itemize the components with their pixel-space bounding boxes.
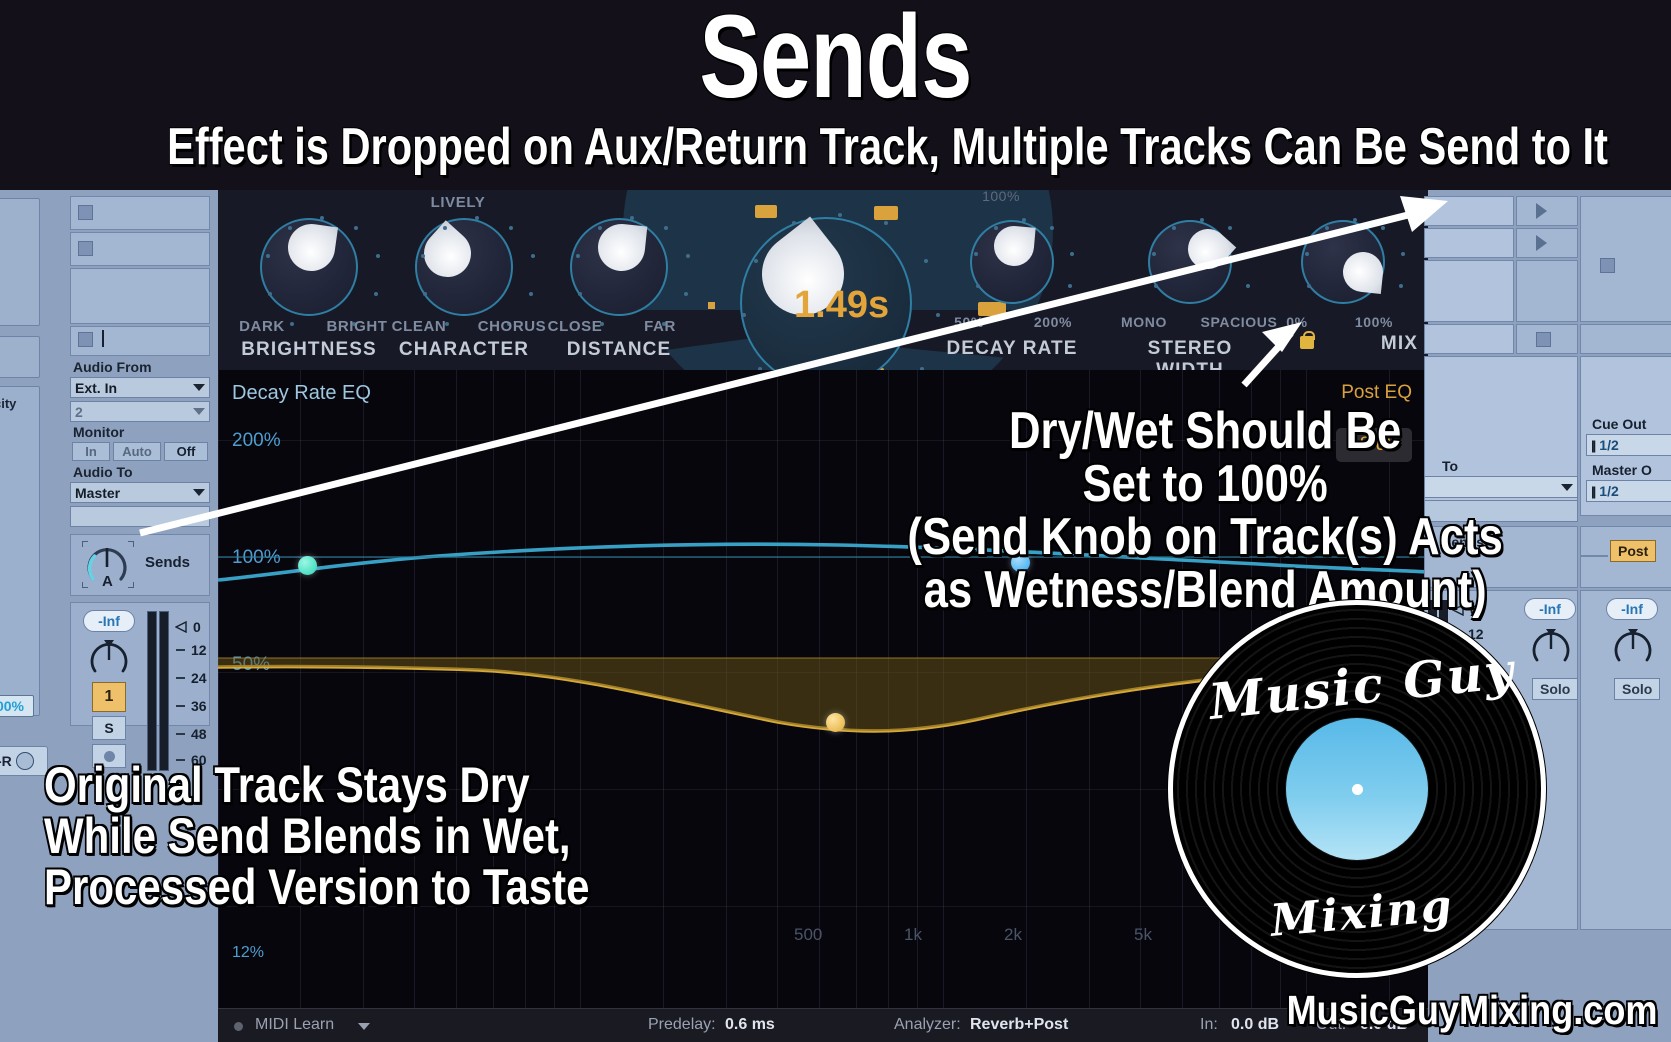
clip-row-3[interactable] (70, 268, 210, 324)
master-solo-button[interactable]: Solo (1614, 678, 1660, 700)
decay-rate-name: DECAY RATE (942, 338, 1082, 360)
anno-left-line-1: Original Track Stays Dry (44, 760, 589, 811)
analyzer-label: Analyzer: (894, 1016, 961, 1034)
pan-knob[interactable] (88, 637, 130, 679)
audio-to-label: Audio To (73, 464, 133, 480)
send-bracket-tr (128, 541, 134, 547)
return-launch-3[interactable] (1516, 260, 1578, 322)
audio-from-channel-select[interactable]: 2 (70, 401, 210, 422)
scale-36: 36 (191, 698, 207, 714)
brightness-name: BRIGHTNESS (239, 339, 379, 361)
annotation-dry-wet: Dry/Wet Should Be Set to 100% (Send Knob… (908, 405, 1503, 617)
audio-from-channel-value: 2 (75, 404, 83, 420)
master-pan-knob[interactable] (1612, 626, 1654, 668)
character-name: CHARACTER (394, 339, 534, 361)
page-title: Sends (184, 0, 1487, 120)
stereo-pair-icon: || (1591, 438, 1594, 453)
meter-right (159, 611, 169, 771)
fader-section: -Inf 1 S 0 (70, 602, 210, 726)
return-volume-value[interactable]: -Inf (1524, 598, 1576, 620)
eq-node-gold[interactable] (826, 713, 845, 732)
anno-left-line-2: While Send Blends in Wet, (44, 811, 589, 862)
return-stop-slot[interactable] (1424, 324, 1514, 354)
monitor-auto-button[interactable]: Auto (113, 442, 161, 461)
send-slot-label: A (102, 573, 113, 590)
midi-learn-label[interactable]: MIDI Learn (255, 1016, 334, 1034)
clip-velocity-label: city (0, 396, 16, 411)
page-subtitle: Effect is Dropped on Aux/Return Track, M… (167, 117, 1504, 177)
audio-to-value: Master (75, 485, 120, 501)
distance-max-label: FAR (630, 318, 690, 335)
return-launch-2[interactable] (1516, 228, 1578, 258)
vinyl-spindle-hole (1352, 784, 1363, 795)
chevron-down-icon (193, 384, 205, 391)
clip-stop-icon-3[interactable] (78, 332, 93, 347)
cue-out-select[interactable]: || 1/2 (1586, 434, 1671, 456)
play-icon-2[interactable] (1536, 235, 1547, 251)
master-marker-icon (175, 621, 187, 633)
in-value: 0.0 dB (1231, 1016, 1279, 1034)
stereo-width-max-label: SPACIOUS (1196, 314, 1282, 330)
decay-rate-min-label: 50% (944, 314, 994, 330)
brightness-knob-dots (260, 218, 358, 316)
scale-24: 24 (191, 670, 207, 686)
master-out-select[interactable]: || 1/2 (1586, 480, 1671, 502)
monitor-off-button[interactable]: Off (164, 442, 208, 461)
return-clip-slot-3[interactable] (1424, 260, 1514, 322)
stop-clip-icon[interactable] (1536, 332, 1551, 347)
anno-right-line-3: (Send Knob on Track(s) Acts (908, 511, 1503, 564)
pan-readout[interactable]: -R (0, 746, 48, 776)
scale-0: 0 (193, 619, 201, 635)
vinyl-record-logo: Music Guy Mixing (1168, 600, 1546, 978)
brightness-min-label: DARK (232, 318, 292, 335)
mix-min-label: 0% (1274, 314, 1320, 330)
master-volume-value[interactable]: -Inf (1606, 598, 1658, 620)
cue-out-value: 1/2 (1599, 437, 1618, 453)
audio-to-select[interactable]: Master (70, 482, 210, 503)
return-clip-slot-1[interactable] (1424, 196, 1514, 226)
clip-detail-pane[interactable] (0, 386, 40, 716)
scale-48: 48 (191, 726, 207, 742)
plugin-status-bar: MIDI Learn Predelay: 0.6 ms Analyzer: Re… (218, 1008, 1428, 1042)
eq-node-cyan[interactable] (298, 556, 317, 575)
audio-from-label: Audio From (73, 359, 152, 375)
decay-rate-max-label: 200% (1024, 314, 1082, 330)
chevron-down-icon (193, 489, 205, 496)
anno-right-line-1: Dry/Wet Should Be (908, 405, 1503, 458)
chevron-down-icon[interactable] (358, 1023, 370, 1030)
send-bracket-br (128, 582, 134, 588)
play-icon-1[interactable] (1536, 203, 1547, 219)
audio-from-select[interactable]: Ext. In (70, 377, 210, 398)
anno-right-line-2: Set to 100% (908, 458, 1503, 511)
post-toggle-button[interactable]: Post (1610, 540, 1656, 562)
anno-left-line-3: Processed Version to Taste (44, 862, 589, 913)
in-label: In: (1200, 1016, 1218, 1034)
mix-knob-dots (1301, 220, 1385, 304)
website-url: MusicGuyMixing.com (1286, 987, 1657, 1034)
character-top-label: LIVELY (393, 194, 523, 211)
master-stop-row[interactable] (1580, 324, 1671, 354)
space-dot-left (708, 302, 715, 309)
stereo-width-min-label: MONO (1116, 314, 1172, 330)
sends-label: Sends (145, 554, 190, 571)
analyzer-value[interactable]: Reverb+Post (970, 1016, 1068, 1034)
send-bracket-tl (82, 541, 88, 547)
mix-name: MIX (1278, 333, 1418, 355)
meter-left (147, 611, 157, 771)
master-out-label: Master O (1592, 462, 1652, 478)
decay-rate-knob-dots (970, 220, 1054, 304)
pan-label: -R (0, 753, 12, 769)
annotation-original-track: Original Track Stays Dry While Send Blen… (44, 760, 589, 913)
stereo-width-knob-dots (1148, 220, 1232, 304)
brightness-max-label: BRIGHT (322, 318, 392, 335)
clip-slot-b[interactable] (0, 336, 40, 378)
master-stop-icon[interactable] (1600, 258, 1615, 273)
phase-icon (16, 752, 34, 770)
send-bracket-bl (82, 582, 88, 588)
sends-section: A Sends (70, 534, 210, 596)
mix-max-label: 100% (1346, 314, 1402, 330)
master-out-value: 1/2 (1599, 483, 1618, 499)
send-route-line (1580, 555, 1608, 557)
clip-percent-field[interactable]: 00% (0, 695, 34, 717)
monitor-label: Monitor (73, 424, 124, 440)
chevron-down-icon (1561, 484, 1573, 491)
monitor-in-button[interactable]: In (72, 442, 110, 461)
header-banner: Sends Effect is Dropped on Aux/Return Tr… (0, 0, 1671, 190)
stereo-pair-icon: || (1591, 484, 1594, 499)
audio-to-sub-select[interactable] (70, 506, 210, 527)
volume-value[interactable]: -Inf (83, 610, 135, 632)
distance-min-label: CLOSE (542, 318, 608, 335)
character-max-label: CHORUS (472, 318, 552, 335)
clip-slot-a[interactable] (0, 198, 40, 326)
distance-name: DISTANCE (549, 339, 689, 361)
return-launch-1[interactable] (1516, 196, 1578, 226)
text-cursor (102, 330, 104, 347)
master-clip-pane[interactable] (1580, 196, 1671, 322)
predelay-label: Predelay: (648, 1016, 716, 1034)
character-knob-dots (415, 218, 513, 316)
midi-indicator-icon (234, 1022, 243, 1031)
clip-stop-icon-2[interactable] (78, 241, 93, 256)
cue-out-label: Cue Out (1592, 416, 1646, 432)
decay-rate-top-label: 100% (936, 190, 1066, 204)
return-clip-slot-2[interactable] (1424, 228, 1514, 258)
chevron-down-icon (193, 408, 205, 415)
distance-knob-dots (570, 218, 668, 316)
audio-from-value: Ext. In (75, 380, 117, 396)
character-min-label: CLEAN (386, 318, 452, 335)
clip-stop-icon-1[interactable] (78, 205, 93, 220)
space-value: 1.49s (794, 284, 889, 327)
solo-button[interactable]: S (92, 716, 126, 740)
track-number-button[interactable]: 1 (92, 682, 126, 712)
scale-12: 12 (191, 642, 207, 658)
predelay-value[interactable]: 0.6 ms (725, 1016, 775, 1034)
